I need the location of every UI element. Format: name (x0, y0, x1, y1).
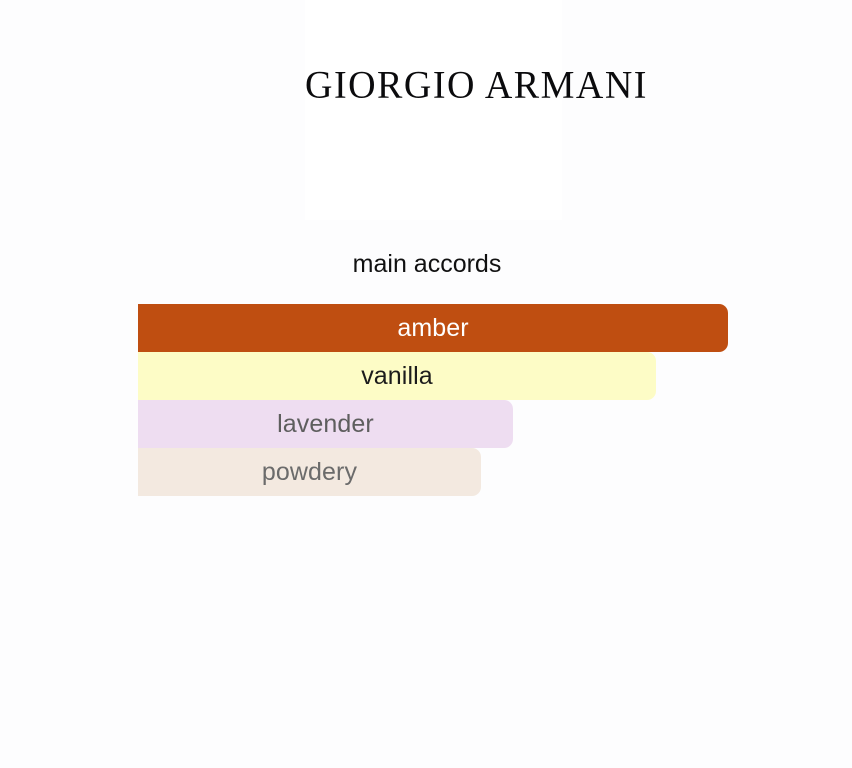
accords-bar-chart: ambervanillalavenderpowdery (0, 304, 852, 496)
accord-bar-amber[interactable]: amber (138, 304, 728, 352)
accord-bar-vanilla[interactable]: vanilla (138, 352, 656, 400)
accord-bar-label: vanilla (361, 362, 433, 390)
brand-header-panel: GIORGIO ARMANI (305, 0, 562, 220)
main-accords-title: main accords (0, 248, 852, 280)
main-accords-section: main accords ambervanillalavenderpowdery (0, 248, 852, 496)
accord-bar-powdery[interactable]: powdery (138, 448, 481, 496)
accord-bar-label: lavender (277, 410, 374, 438)
accord-bar-label: powdery (262, 458, 357, 486)
fragrance-accords-page: { "brand": { "logo_text": "GIORGIO ARMAN… (0, 0, 852, 768)
accord-bar-label: amber (397, 314, 468, 342)
brand-logo: GIORGIO ARMANI (305, 62, 562, 108)
accord-bar-lavender[interactable]: lavender (138, 400, 513, 448)
